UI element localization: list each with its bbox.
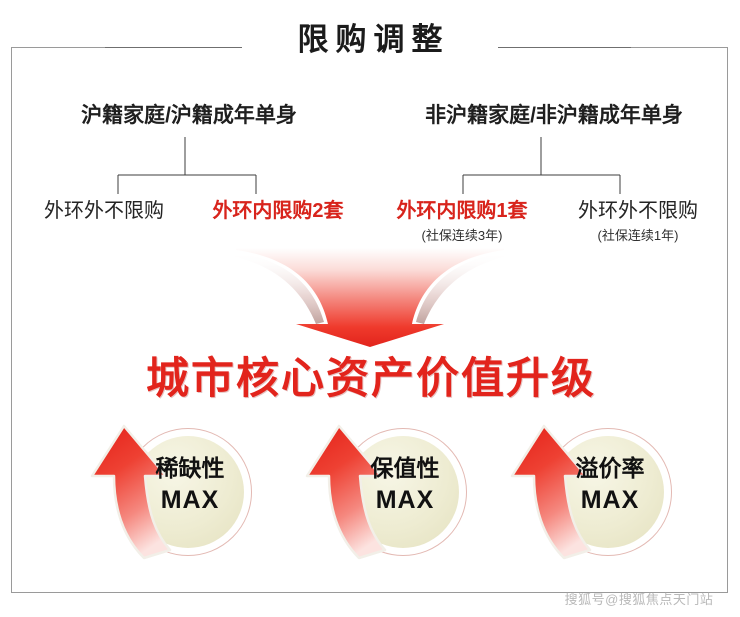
option-note: (社保连续3年)	[374, 226, 550, 246]
funnel-down-arrow-icon	[228, 248, 512, 348]
infographic-canvas: 限购调整 沪籍家庭/沪籍成年单身 非沪籍家庭/非沪籍成年单身 外环外不限购 外环…	[0, 0, 740, 617]
watermark: 搜狐号@搜狐焦点天门站	[548, 591, 730, 609]
badge-scarcity: 稀缺性 MAX	[70, 422, 270, 562]
badge-text: 溢价率 MAX	[552, 452, 668, 516]
badge-label: 溢价率	[552, 452, 668, 484]
option-cell-3: 外环内限购1套 (社保连续3年)	[374, 198, 550, 246]
option-cell-1: 外环外不限购	[18, 198, 190, 226]
option-label: 外环外不限购	[552, 198, 724, 224]
option-note: (社保连续1年)	[552, 226, 724, 246]
option-label: 外环外不限购	[18, 198, 190, 224]
category-header-nonlocal: 非沪籍家庭/非沪籍成年单身	[378, 99, 730, 129]
page-title: 限购调整	[0, 20, 740, 60]
badge-value: MAX	[132, 484, 248, 516]
badge-text: 稀缺性 MAX	[132, 452, 248, 516]
option-label: 外环内限购2套	[190, 198, 366, 224]
option-label: 外环内限购1套	[374, 198, 550, 224]
badge-label: 保值性	[347, 452, 463, 484]
badge-value-retention: 保值性 MAX	[285, 422, 485, 562]
badge-text: 保值性 MAX	[347, 452, 463, 516]
badge-value: MAX	[347, 484, 463, 516]
category-header-local: 沪籍家庭/沪籍成年单身	[22, 99, 356, 129]
option-cell-2: 外环内限购2套	[190, 198, 366, 226]
badge-premium-rate: 溢价率 MAX	[490, 422, 690, 562]
option-cell-4: 外环外不限购 (社保连续1年)	[552, 198, 724, 246]
headline-text: 城市核心资产价值升级	[0, 352, 740, 406]
badge-value: MAX	[552, 484, 668, 516]
badge-label: 稀缺性	[132, 452, 248, 484]
